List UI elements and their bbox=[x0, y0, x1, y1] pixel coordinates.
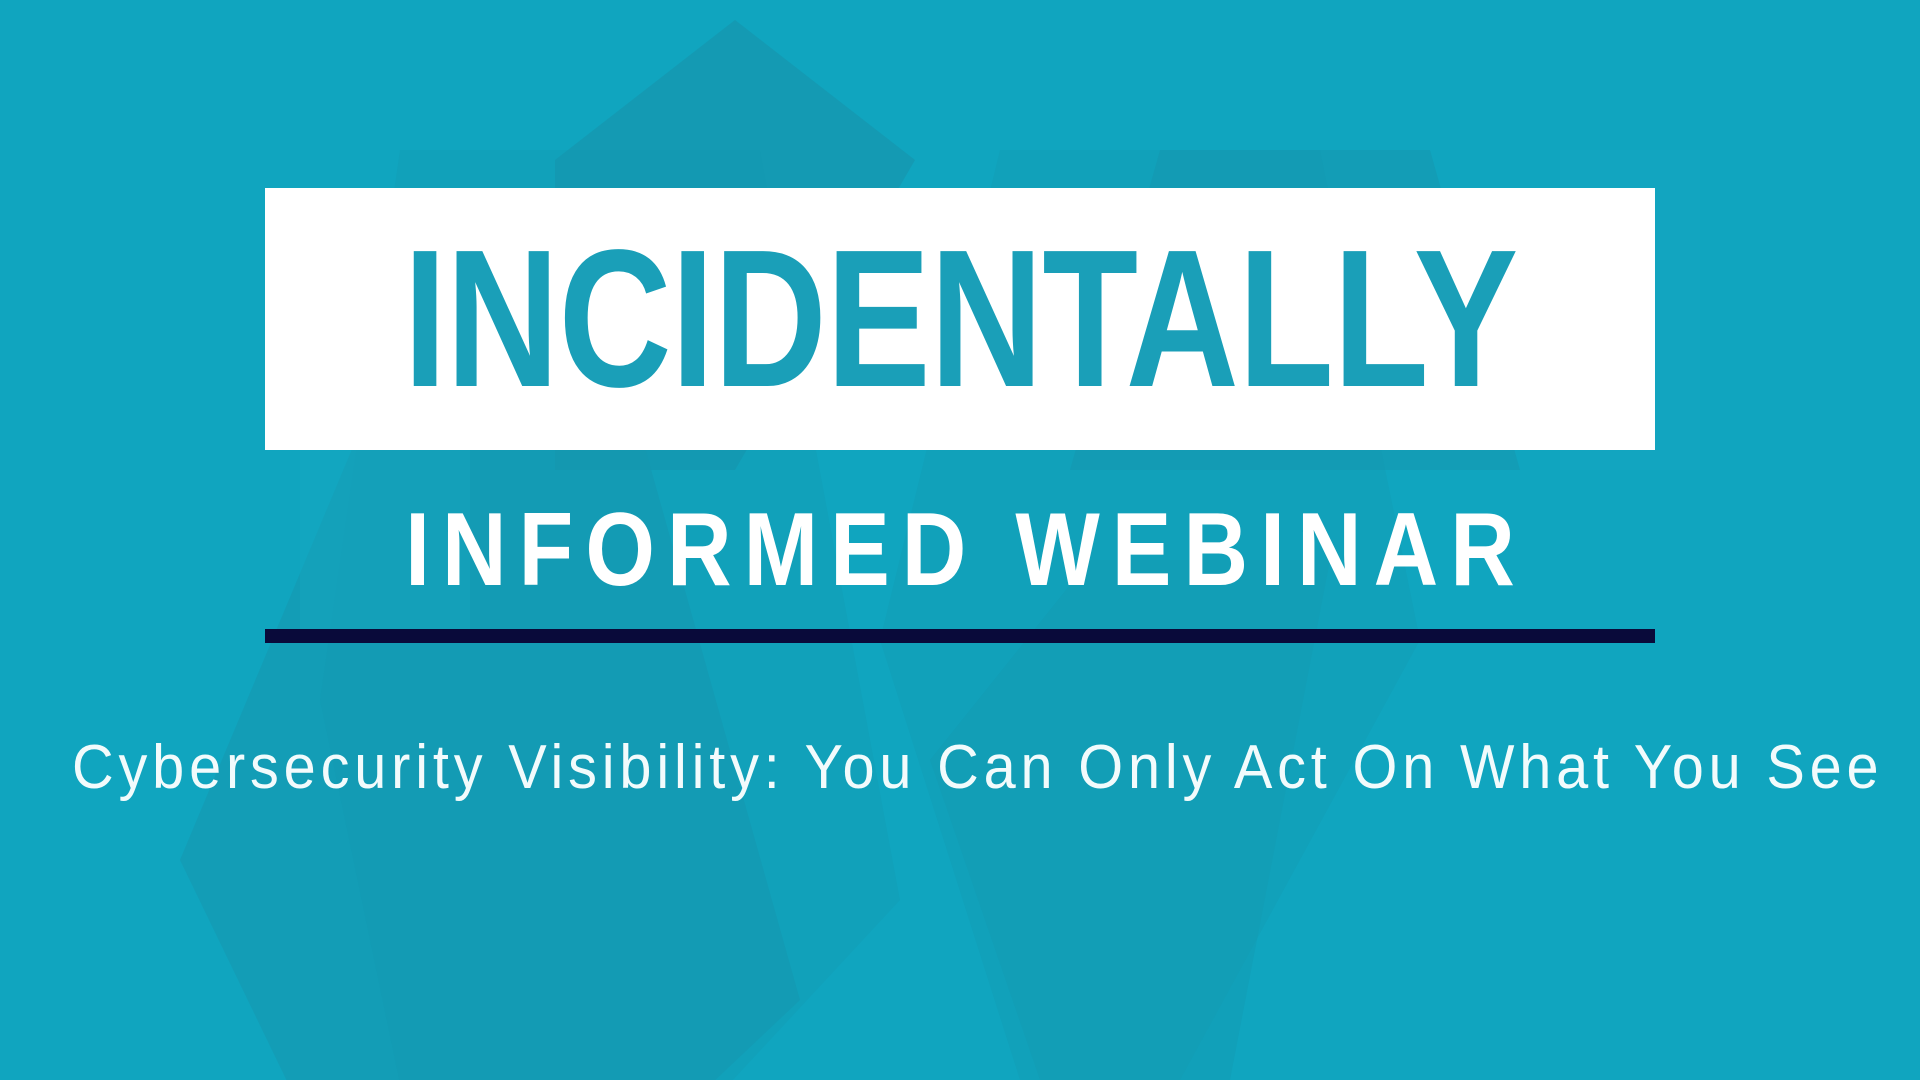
brand-secondary-text: INFORMED WEBINAR bbox=[134, 497, 1785, 603]
brand-title-plate: INCIDENTALLY bbox=[265, 188, 1655, 450]
navy-divider-rule bbox=[265, 629, 1655, 643]
webinar-title-slide: INCIDENTALLY INFORMED WEBINAR Cybersecur… bbox=[0, 0, 1920, 1080]
session-subtitle: Cybersecurity Visibility: You Can Only A… bbox=[67, 732, 1853, 803]
brand-primary-text: INCIDENTALLY bbox=[403, 237, 1517, 402]
